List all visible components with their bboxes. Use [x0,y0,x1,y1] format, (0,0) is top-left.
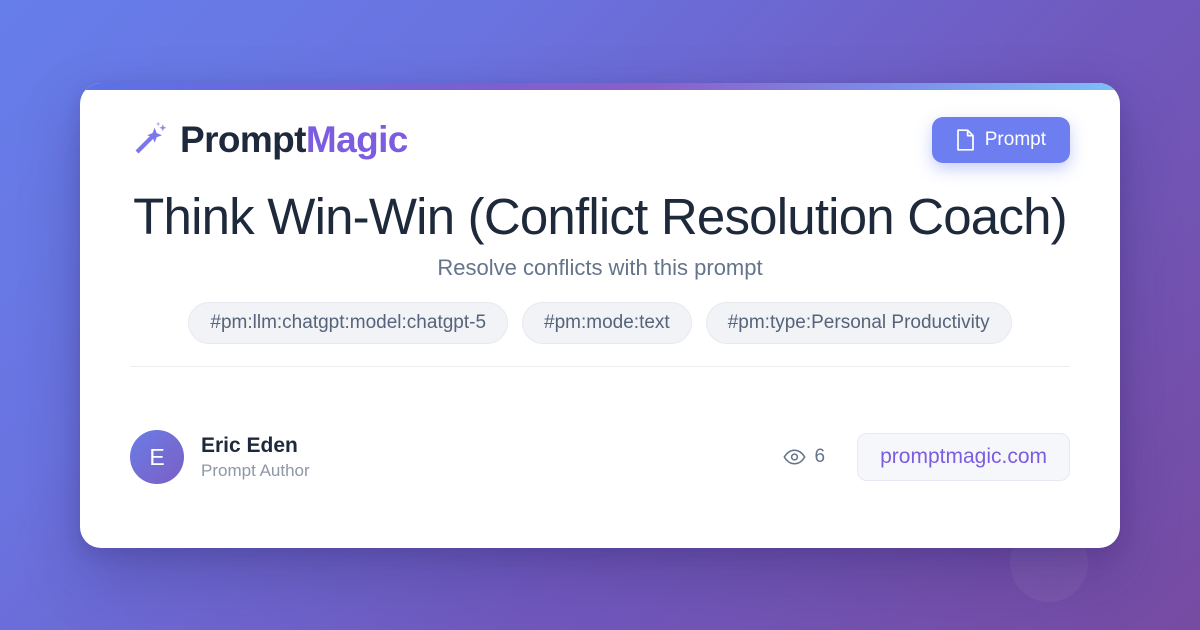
brand-logo[interactable]: PromptMagic [130,121,408,159]
view-count: 6 [783,446,826,468]
author-name: Eric Eden [201,434,310,458]
page-subtitle: Resolve conflicts with this prompt [130,255,1070,281]
author-text: Eric Eden Prompt Author [201,434,310,481]
card-footer: E Eric Eden Prompt Author 6 promp [130,367,1070,548]
page-title: Think Win-Win (Conflict Resolution Coach… [130,187,1070,246]
prompt-button[interactable]: Prompt [932,117,1070,163]
domain-badge[interactable]: promptmagic.com [857,433,1070,481]
avatar: E [130,430,184,484]
brand-name-accent: Magic [306,119,408,160]
brand-name: PromptMagic [180,121,408,158]
card-content: PromptMagic Prompt Think Win-Win (Confli… [80,90,1120,548]
tag-item[interactable]: #pm:type:Personal Productivity [706,302,1012,344]
view-count-value: 6 [815,446,826,468]
magic-wand-icon [130,121,168,159]
prompt-card: PromptMagic Prompt Think Win-Win (Confli… [80,83,1120,548]
prompt-button-label: Prompt [985,130,1046,149]
tag-item[interactable]: #pm:mode:text [522,302,692,344]
footer-meta: 6 promptmagic.com [783,433,1070,481]
tag-list: #pm:llm:chatgpt:model:chatgpt-5 #pm:mode… [130,302,1070,344]
eye-icon [783,449,806,465]
document-icon [956,129,975,151]
author-role: Prompt Author [201,461,310,481]
tag-item[interactable]: #pm:llm:chatgpt:model:chatgpt-5 [188,302,508,344]
brand-name-primary: Prompt [180,119,306,160]
card-header: PromptMagic Prompt [130,117,1070,163]
author-block[interactable]: E Eric Eden Prompt Author [130,430,310,484]
card-accent-bar [80,83,1120,90]
